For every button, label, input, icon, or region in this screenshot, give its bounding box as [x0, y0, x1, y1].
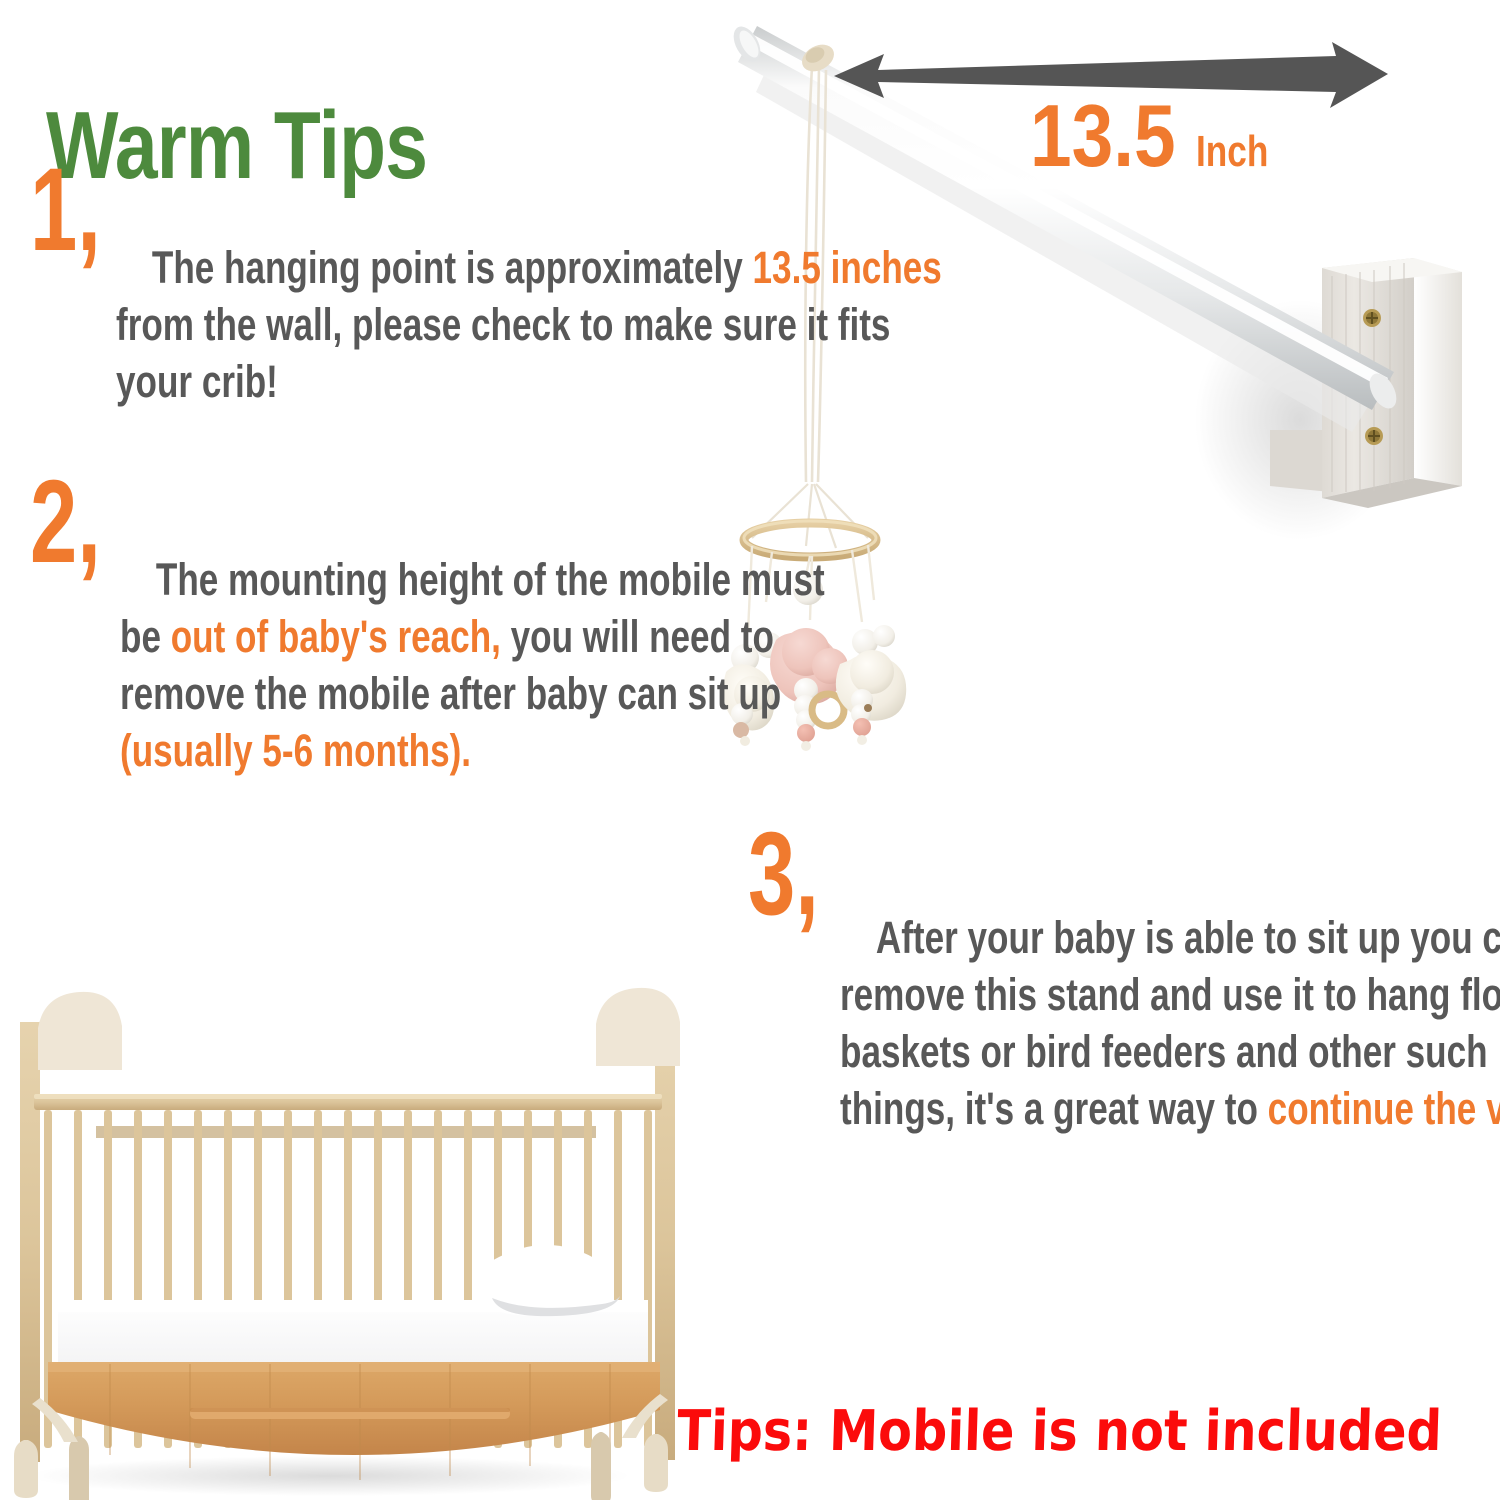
- dimension-value: 13.5: [1030, 92, 1176, 180]
- crib-headboard-left: [38, 992, 122, 1094]
- tip-number-3: 3,: [748, 822, 819, 926]
- crib-slats: [44, 1110, 652, 1448]
- tip-1-seg-2: from the wall, please check to make sure…: [116, 299, 890, 407]
- string-knot: [797, 39, 838, 76]
- tip-number-1: 1,: [30, 158, 101, 262]
- dimension-callout: 13.5 Inch: [1030, 92, 1286, 180]
- tip-1-seg-1: 13.5 inches: [753, 242, 942, 293]
- tip-number-2: 2,: [30, 470, 101, 574]
- dimension-unit: Inch: [1196, 130, 1268, 174]
- bracket-shadow: [1195, 300, 1405, 540]
- baby-crib-illustration: [14, 988, 680, 1500]
- crib-pillow: [477, 1245, 621, 1316]
- crib-mattress: [58, 1300, 648, 1388]
- crib-headboard-right: [596, 988, 680, 1090]
- tip-2-seg-3: (usually 5-6 months).: [120, 725, 471, 776]
- bracket-screw-top: [1363, 309, 1381, 327]
- tip-2-seg-1: out of baby's reach,: [171, 611, 501, 662]
- tip-1-seg-0: The hanging point is approximately: [152, 242, 753, 293]
- mobile-cloud-right: [836, 625, 906, 745]
- crib-legs: [14, 1432, 668, 1500]
- infographic-canvas: Warm Tips 13.5 Inch 1, The hanging point…: [0, 0, 1500, 1500]
- tip-3-seg-1: continue the value.: [1268, 1083, 1500, 1134]
- footer-disclaimer: Tips: Mobile is not included: [676, 1404, 1442, 1460]
- tip-text-3: After your baby is able to sit up you ca…: [840, 909, 1500, 1137]
- bracket-screw-bottom: [1365, 427, 1383, 445]
- crib-corner-brackets: [32, 1394, 668, 1442]
- wall-mount-bracket: [1270, 258, 1462, 508]
- tip-text-2: The mounting height of the mobile must b…: [120, 551, 838, 779]
- crib-lower-panel: [48, 1362, 660, 1480]
- page-title: Warm Tips: [46, 98, 427, 194]
- tip-text-1: The hanging point is approximately 13.5 …: [116, 239, 943, 410]
